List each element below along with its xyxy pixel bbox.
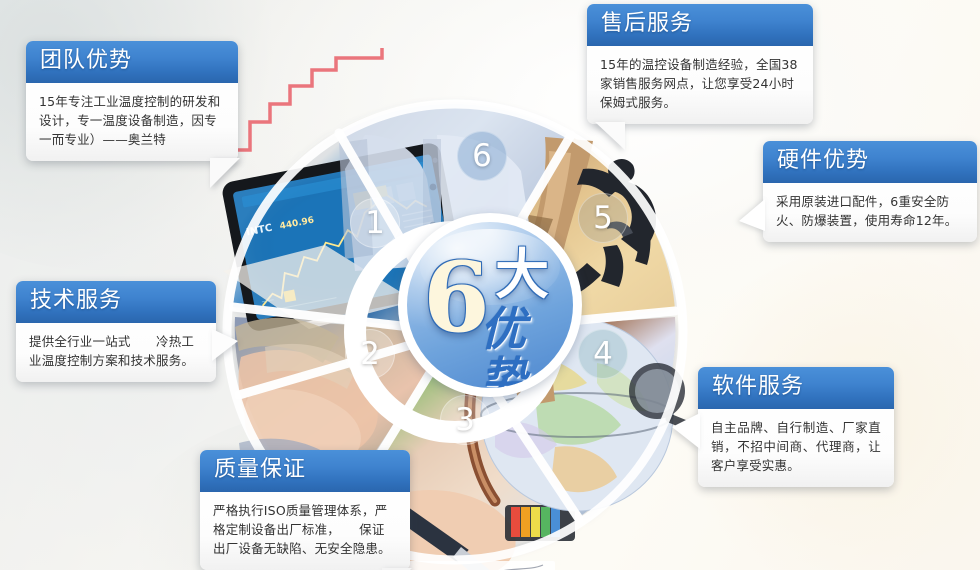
center-badge-inner: 6 大 优势: [407, 222, 573, 388]
callout-after-sales-text: 15年的温控设备制造经验，全国38家销售服务网点，让您享受24小时保姆式服务。: [587, 46, 813, 124]
callout-team-title: 团队优势: [26, 41, 238, 83]
callout-team-advantage[interactable]: 团队优势 15年专注工业温度控制的研发和设计，专一温度设备制造，因专一而专业）—…: [26, 41, 238, 161]
segment-badge-4[interactable]: 4: [578, 329, 628, 379]
segment-badge-3[interactable]: 3: [440, 395, 490, 445]
callout-software-tail: [672, 413, 700, 449]
callout-technical-tail: [212, 329, 238, 361]
infographic-canvas: INTC 440.96: [0, 0, 980, 570]
callout-after-sales-title: 售后服务: [587, 4, 813, 46]
callout-quality-assurance[interactable]: 质量保证 严格执行ISO质量管理体系，严格定制设备出厂标准， 保证出厂设备无缺陷…: [200, 450, 410, 570]
callout-technical-title: 技术服务: [16, 281, 216, 323]
callout-team-tail: [210, 158, 240, 188]
callout-software-service[interactable]: 软件服务 自主品牌、自行制造、厂家直销，不招中间商、代理商，让客户享受实惠。: [698, 367, 894, 487]
callout-after-sales-tail: [595, 122, 625, 150]
segment-badge-1[interactable]: 1: [350, 198, 400, 248]
callout-after-sales[interactable]: 售后服务 15年的温控设备制造经验，全国38家销售服务网点，让您享受24小时保姆…: [587, 4, 813, 124]
segment-badge-6[interactable]: 6: [457, 131, 507, 181]
callout-software-title: 软件服务: [698, 367, 894, 409]
center-badge: 6 大 优势: [398, 213, 582, 397]
callout-technical-service[interactable]: 技术服务 提供全行业一站式 冷热工业温度控制方案和技术服务。: [16, 281, 216, 382]
callout-hardware-text: 采用原装进口配件，6重安全防火、防爆装置，使用寿命12年。: [763, 183, 977, 242]
segment-badge-5[interactable]: 5: [578, 193, 628, 243]
callout-hardware-title: 硬件优势: [763, 141, 977, 183]
center-script-text: 优势: [480, 304, 573, 388]
segment-badge-2[interactable]: 2: [345, 329, 395, 379]
callout-quality-title: 质量保证: [200, 450, 410, 492]
callout-team-text: 15年专注工业温度控制的研发和设计，专一温度设备制造，因专一而专业）——奥兰特: [26, 83, 238, 161]
callout-hardware-tail: [739, 199, 765, 231]
center-big-char: 大: [495, 248, 549, 302]
callout-hardware-advantage[interactable]: 硬件优势 采用原装进口配件，6重安全防火、防爆装置，使用寿命12年。: [763, 141, 977, 242]
callout-technical-text: 提供全行业一站式 冷热工业温度控制方案和技术服务。: [16, 323, 216, 382]
callout-quality-text: 严格执行ISO质量管理体系，严格定制设备出厂标准， 保证出厂设备无缺陷、无安全隐…: [200, 492, 410, 570]
callout-software-text: 自主品牌、自行制造、厂家直销，不招中间商、代理商，让客户享受实惠。: [698, 409, 894, 487]
